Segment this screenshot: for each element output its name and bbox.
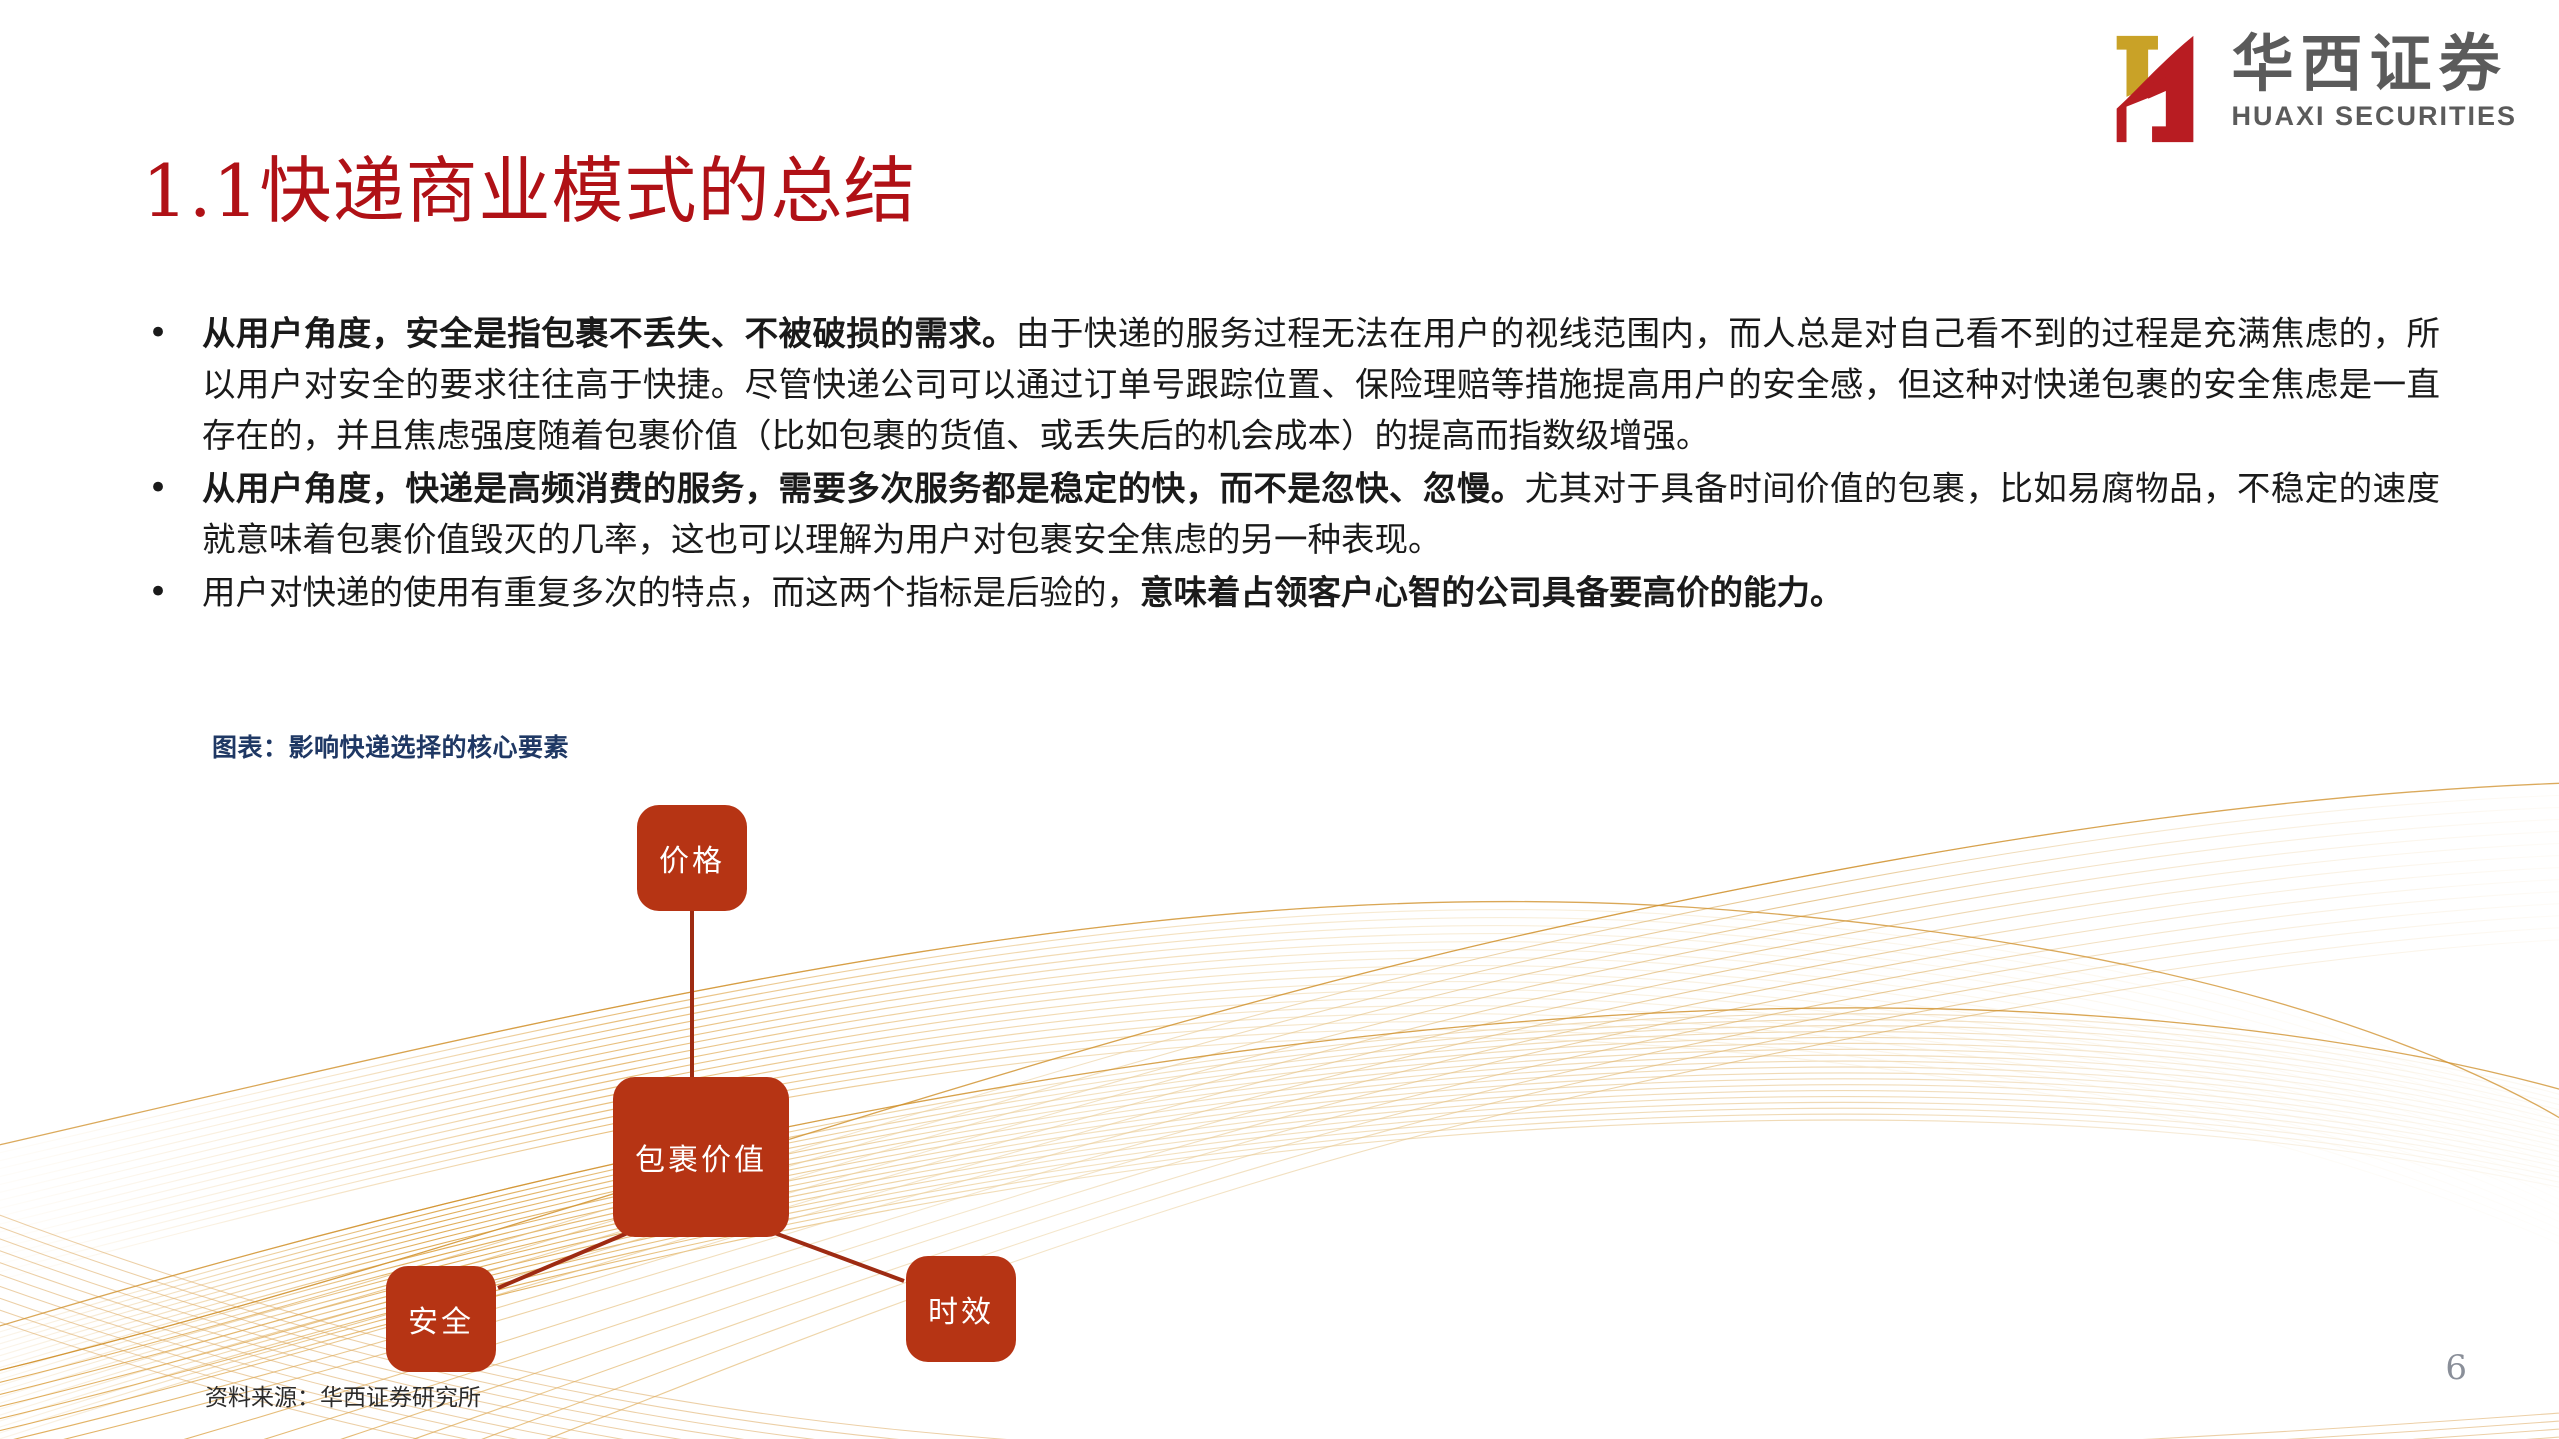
diagram-node-safety[interactable]: 安全 [386, 1266, 496, 1372]
bullet-bold-lead: 从用户角度，快递是高频消费的服务，需要多次服务都是稳定的快，而不是忽快、忽慢。 [202, 469, 1525, 508]
bullet-list: • 从用户角度，安全是指包裹不丢失、不被破损的需求。由于快递的服务过程无法在用户… [140, 308, 2440, 620]
bullet-rest: 用户对快递的使用有重复多次的特点，而这两个指标是后验的， [202, 573, 1140, 612]
bullet-text: 从用户角度，快递是高频消费的服务，需要多次服务都是稳定的快，而不是忽快、忽慢。尤… [202, 463, 2440, 565]
bullet-text: 用户对快递的使用有重复多次的特点，而这两个指标是后验的，意味着占领客户心智的公司… [202, 567, 2440, 618]
bullet-bold-lead: 从用户角度，安全是指包裹不丢失、不被破损的需求。 [202, 314, 1016, 353]
diagram-node-package-value[interactable]: 包裹价值 [613, 1077, 789, 1237]
diagram-node-price[interactable]: 价格 [637, 805, 747, 911]
logo-text-block: 华西证券 HUAXI SECURITIES [2231, 28, 2517, 132]
bullet-bold-tail: 意味着占领客户心智的公司具备要高价的能力。 [1140, 573, 1844, 612]
connector-center-to-speed [772, 1232, 904, 1281]
connector-center-to-safety [498, 1232, 630, 1288]
logo-chinese-name: 华西证券 [2231, 32, 2517, 95]
slide-canvas: 华西证券 HUAXI SECURITIES 1.1快递商业模式的总结 • 从用户… [0, 0, 2559, 1439]
exhibit-caption: 图表：影响快递选择的核心要素 [212, 728, 569, 764]
bullet-marker: • [140, 463, 202, 514]
page-number: 6 [2445, 1348, 2467, 1388]
bullet-item-2: • 从用户角度，快递是高频消费的服务，需要多次服务都是稳定的快，而不是忽快、忽慢… [140, 463, 2440, 565]
bullet-item-3: • 用户对快递的使用有重复多次的特点，而这两个指标是后验的，意味着占领客户心智的… [140, 567, 2440, 618]
bullet-marker: • [140, 567, 202, 618]
diagram-node-timeliness[interactable]: 时效 [906, 1256, 1016, 1362]
source-note: 资料来源：华西证券研究所 [205, 1378, 481, 1412]
bullet-text: 从用户角度，安全是指包裹不丢失、不被破损的需求。由于快递的服务过程无法在用户的视… [202, 308, 2440, 461]
bullet-marker: • [140, 308, 202, 359]
brand-logo: 华西证券 HUAXI SECURITIES [2097, 28, 2517, 146]
bullet-item-1: • 从用户角度，安全是指包裹不丢失、不被破损的需求。由于快递的服务过程无法在用户… [140, 308, 2440, 461]
page-title: 1.1快递商业模式的总结 [142, 152, 917, 231]
logo-english-name: HUAXI SECURITIES [2231, 101, 2517, 132]
huaxi-h-mark-icon [2097, 28, 2215, 146]
